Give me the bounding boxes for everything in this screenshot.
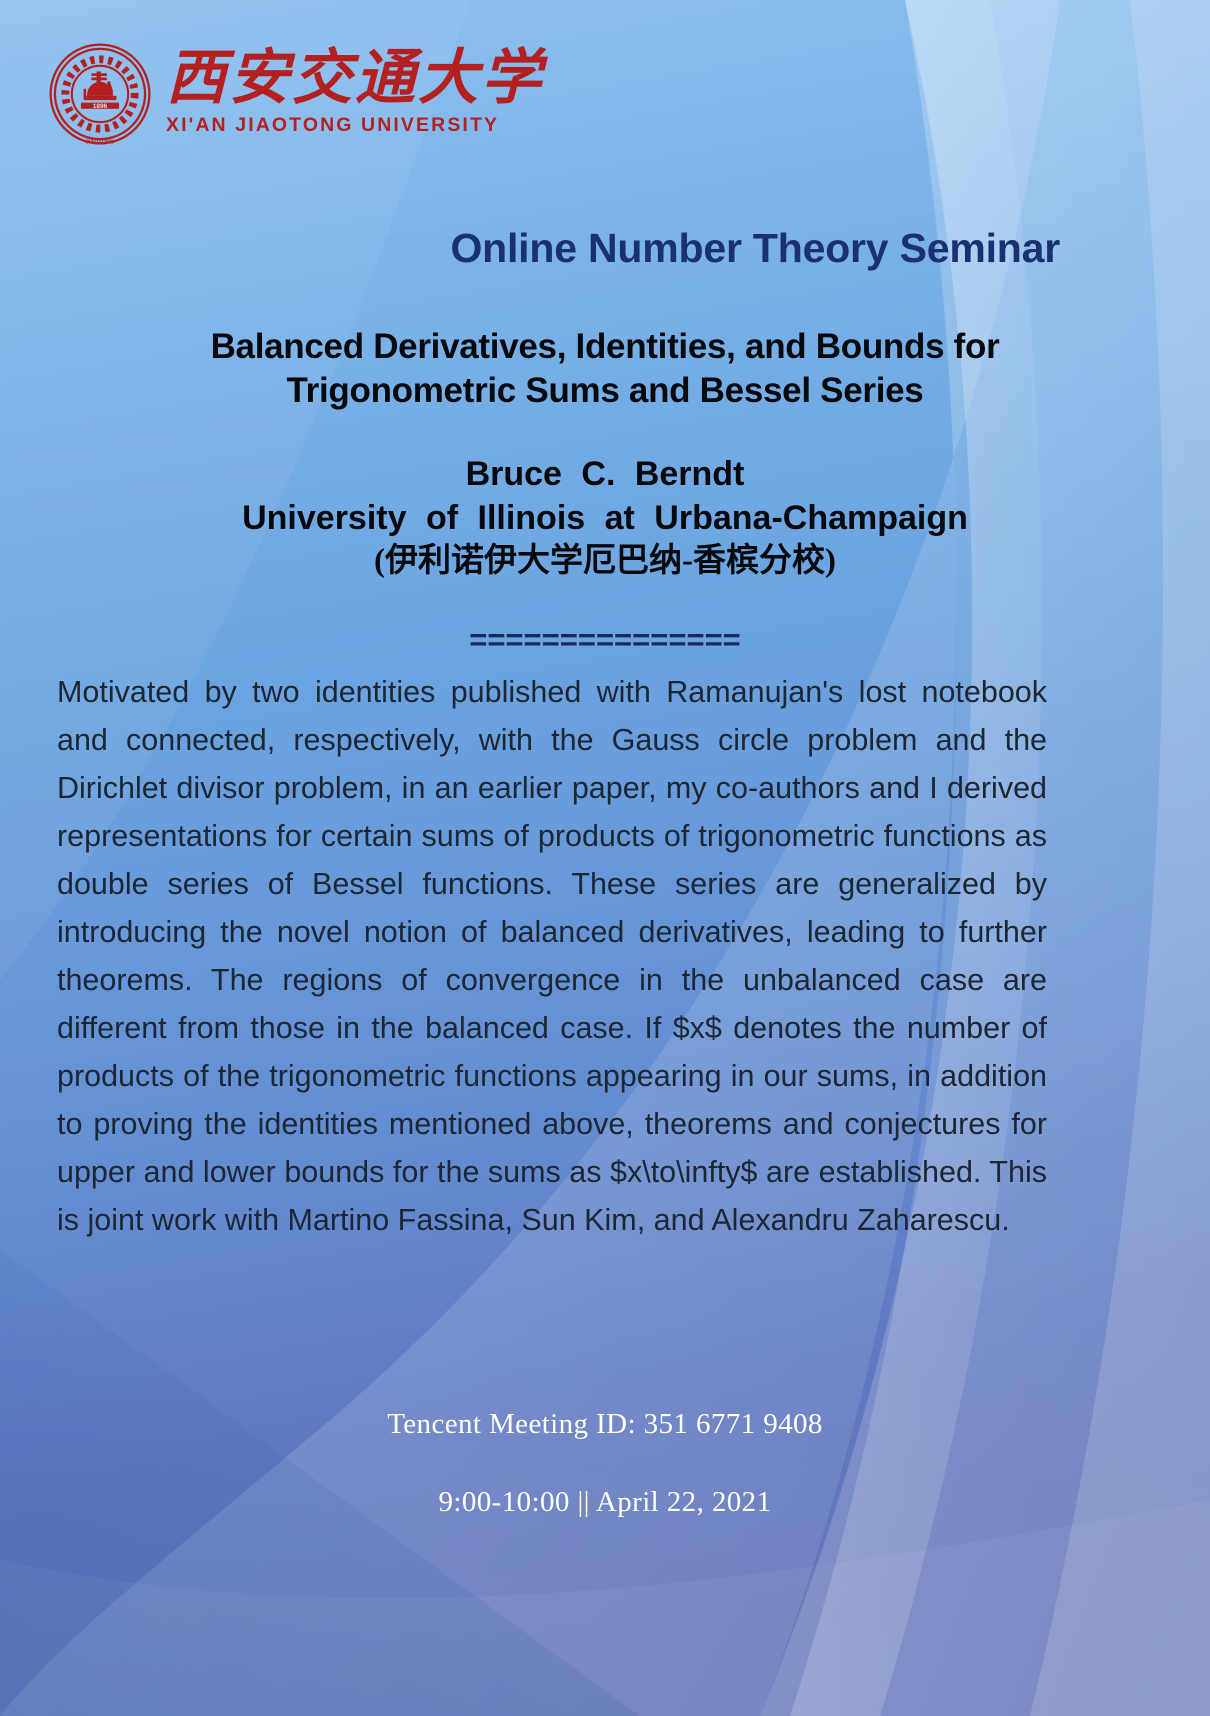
talk-title-line-2: Trigonometric Sums and Bessel Series <box>125 369 1085 413</box>
talk-title: Balanced Derivatives, Identities, and Bo… <box>125 325 1085 413</box>
logo-english-name: XI'AN JIAOTONG UNIVERSITY <box>166 114 544 137</box>
speaker-name: Bruce C. Berndt <box>75 452 1135 496</box>
svg-text:1896: 1896 <box>93 103 108 110</box>
speaker-block: Bruce C. Berndt University of Illinois a… <box>75 452 1135 584</box>
speaker-affiliation: University of Illinois at Urbana-Champai… <box>75 496 1135 540</box>
meeting-time-text: 9:00-10:00 || April 22, 2021 <box>439 1486 772 1519</box>
talk-title-line-1: Balanced Derivatives, Identities, and Bo… <box>125 325 1085 369</box>
university-logo: 1896 JIAOTONG 西安交通大学 XI'AN JIAOTONG UNIV… <box>48 42 544 146</box>
speaker-affiliation-chinese: (伊利诺伊大学厄巴纳-香槟分校) <box>75 540 1135 584</box>
meeting-id-text: Tencent Meeting ID: 351 6771 9408 <box>387 1408 823 1441</box>
xjtu-seal-icon: 1896 JIAOTONG <box>48 42 152 146</box>
abstract-text: Motivated by two identities published wi… <box>57 668 1047 1244</box>
seminar-series-title: Online Number Theory Seminar <box>450 225 1060 272</box>
logo-chinese-name: 西安交通大学 <box>166 48 544 108</box>
section-separator: =============== <box>469 622 741 658</box>
seminar-poster: 1896 JIAOTONG 西安交通大学 XI'AN JIAOTONG UNIV… <box>0 0 1210 1716</box>
svg-text:JIAOTONG: JIAOTONG <box>86 139 114 145</box>
logo-wordmark: 西安交通大学 XI'AN JIAOTONG UNIVERSITY <box>166 48 544 137</box>
